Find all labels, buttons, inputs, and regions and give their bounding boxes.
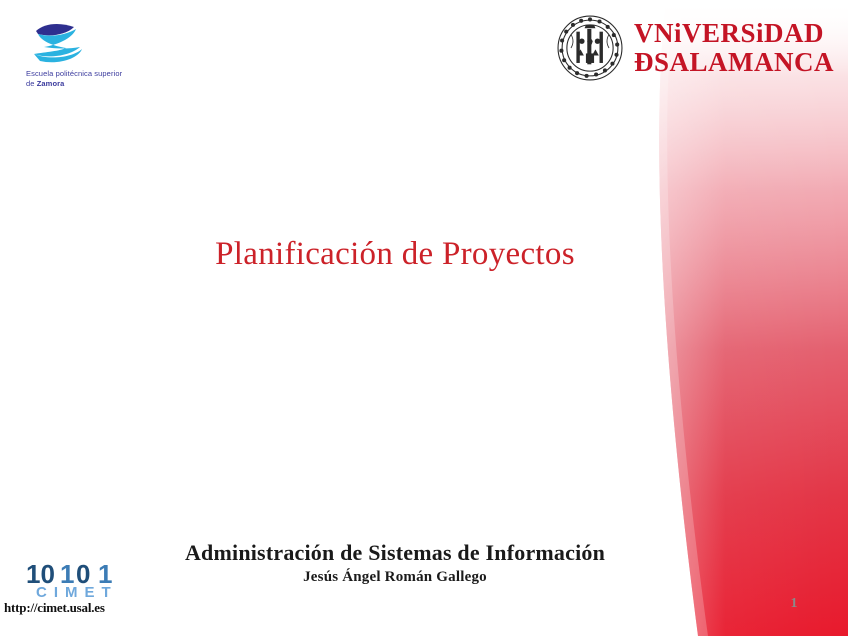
cimet-logo: 10 1 0 1 CIMET http://cimet.usal.es [0,559,190,616]
universidad-salamanca-seal-icon [556,14,624,82]
usal-line-2: ÐSALAMANCA [634,49,834,76]
page-number: 1 [784,596,804,612]
usal-wordmark: VNiVERSiDAD ÐSALAMANCA [634,20,834,76]
cimet-url[interactable]: http://cimet.usal.es [4,600,190,616]
universidad-salamanca-logo: VNiVERSiDAD ÐSALAMANCA [556,14,834,82]
eps-caption-line1: Escuela politécnica superior [26,69,122,78]
slide-title: Planificación de Proyectos [0,236,790,273]
eps-caption-line2-prefix: de [26,79,37,88]
usal-line-1: VNiVERSiDAD [634,20,834,47]
eps-caption-city: Zamora [37,79,65,88]
svg-text:CIMET: CIMET [36,584,118,601]
eps-zamora-caption: Escuela politécnica superior de Zamora [26,69,156,88]
eps-zamora-river-icon [26,18,92,66]
eps-zamora-logo: Escuela politécnica superior de Zamora [26,18,166,88]
slide-canvas: Escuela politécnica superior de Zamora [0,0,848,636]
cimet-binary-icon: 10 1 0 1 CIMET [24,559,136,601]
